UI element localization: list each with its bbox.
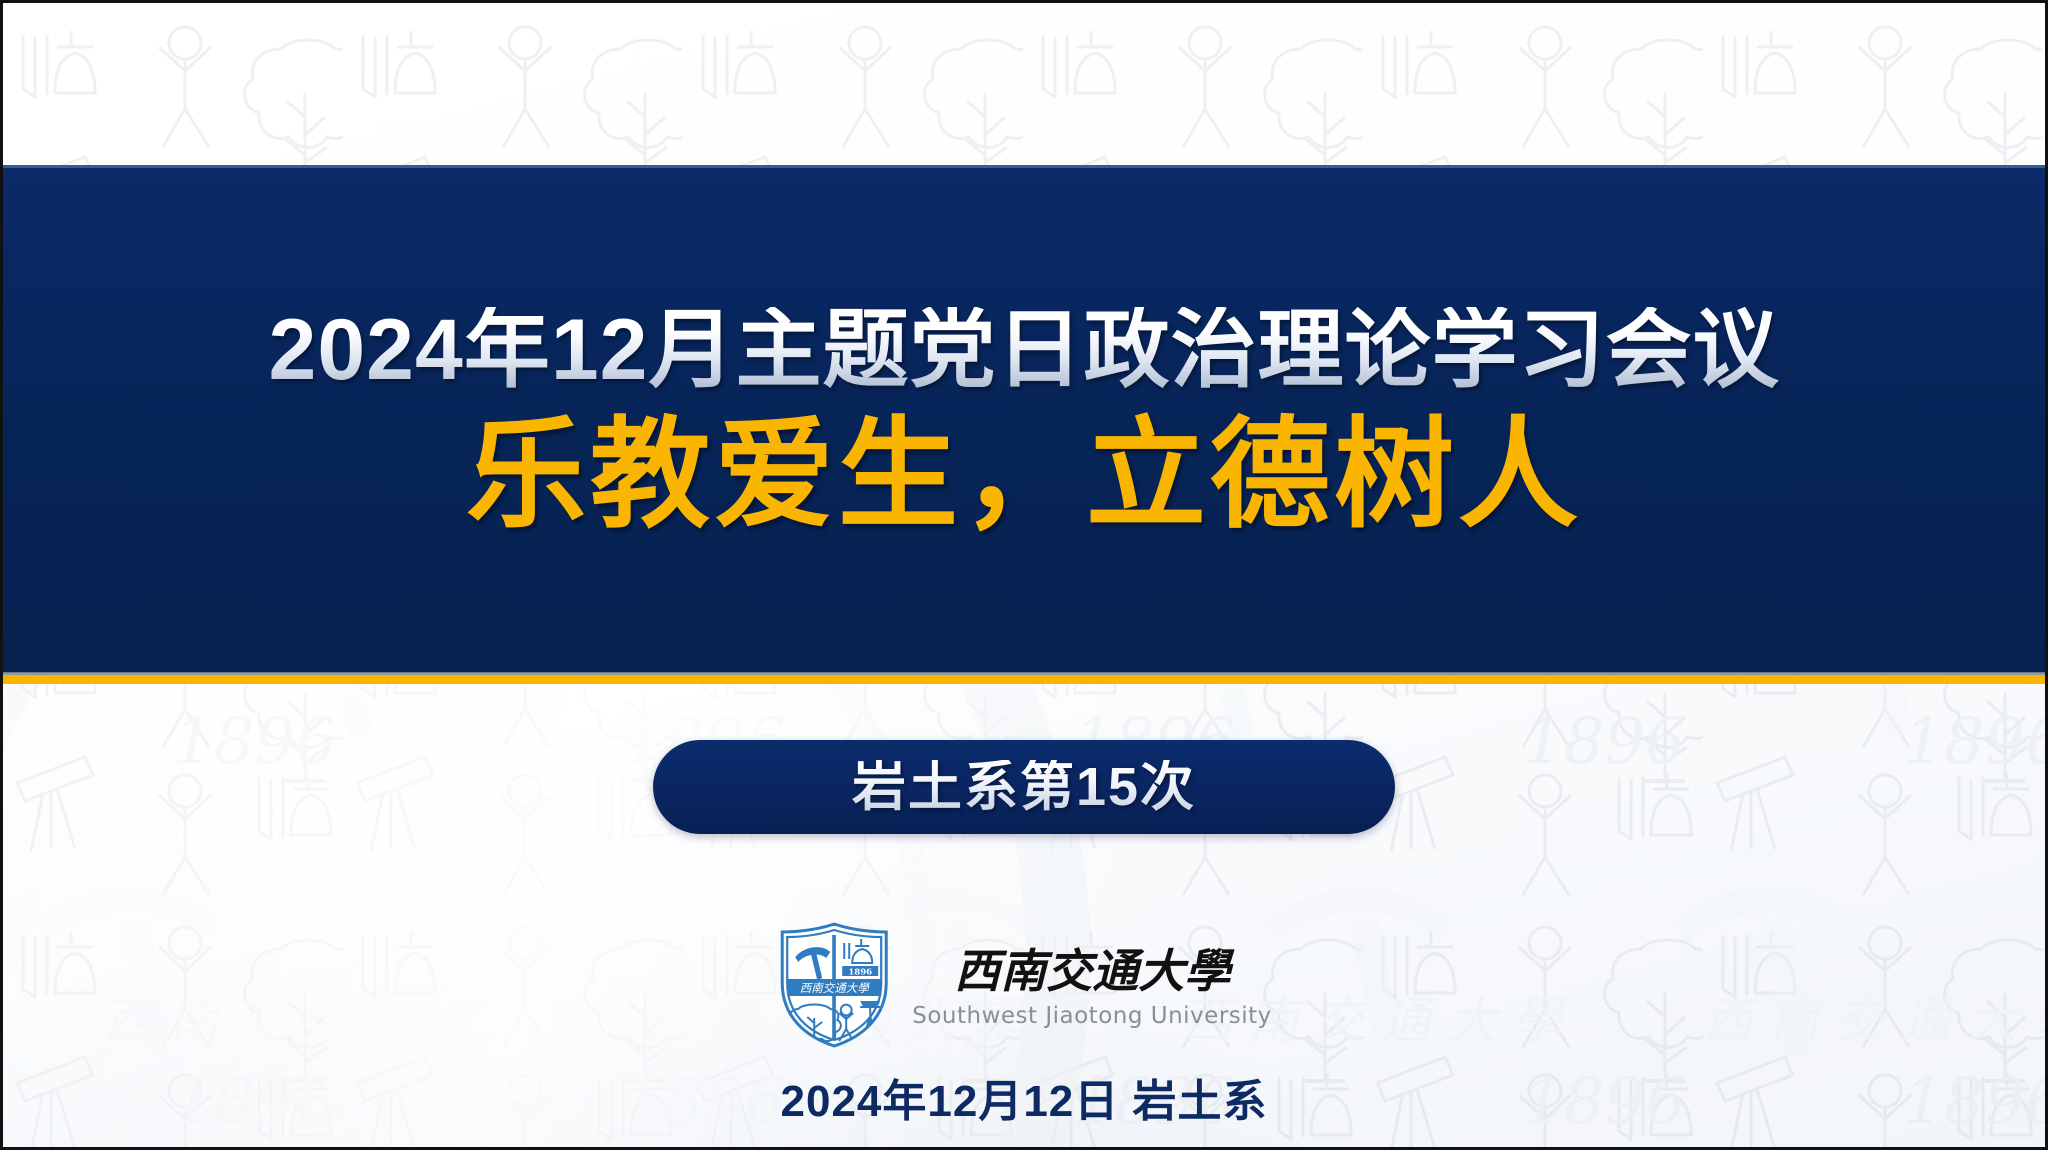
swjtu-shield-icon: 1896 西南交通大學 — [776, 921, 892, 1049]
gold-divider-rule — [3, 675, 2045, 684]
svg-text:1896: 1896 — [848, 967, 872, 977]
session-badge-label: 岩土系第15次 — [852, 760, 1196, 814]
svg-text:1896: 1896 — [1903, 1065, 2048, 1139]
footer-date-department: 2024年12月12日 岩土系 — [781, 1065, 1268, 1129]
university-name-cn-calligraphy: 西南交通大學 — [942, 941, 1242, 1001]
university-wordmark: 西南交通大學 Southwest Jiaotong University — [912, 941, 1272, 1029]
university-logo-lockup: 1896 西南交通大學 — [776, 921, 1272, 1049]
university-name-en: Southwest Jiaotong University — [912, 1003, 1272, 1029]
svg-text:西南交通大學: 西南交通大學 — [954, 944, 1235, 998]
svg-text:西 南 交 通 大 學: 西 南 交 通 大 學 — [1703, 992, 2048, 1050]
session-badge: 岩土系第15次 — [653, 740, 1395, 834]
meeting-title: 2024年12月主题党日政治理论学习会议 — [269, 307, 1780, 393]
presentation-slide: 1896 1896 1896 1896 1896 1896 1896 1896 … — [0, 0, 2048, 1150]
svg-text:1896: 1896 — [1523, 705, 1686, 779]
title-band: 2024年12月主题党日政治理论学习会议 乐教爱生，立德树人 — [3, 165, 2045, 673]
svg-text:1896: 1896 — [1523, 1065, 1686, 1139]
svg-text:1896: 1896 — [1903, 705, 2048, 779]
meeting-slogan: 乐教爱生，立德树人 — [466, 415, 1582, 535]
svg-text:西南交通大學: 西南交通大學 — [800, 981, 870, 995]
